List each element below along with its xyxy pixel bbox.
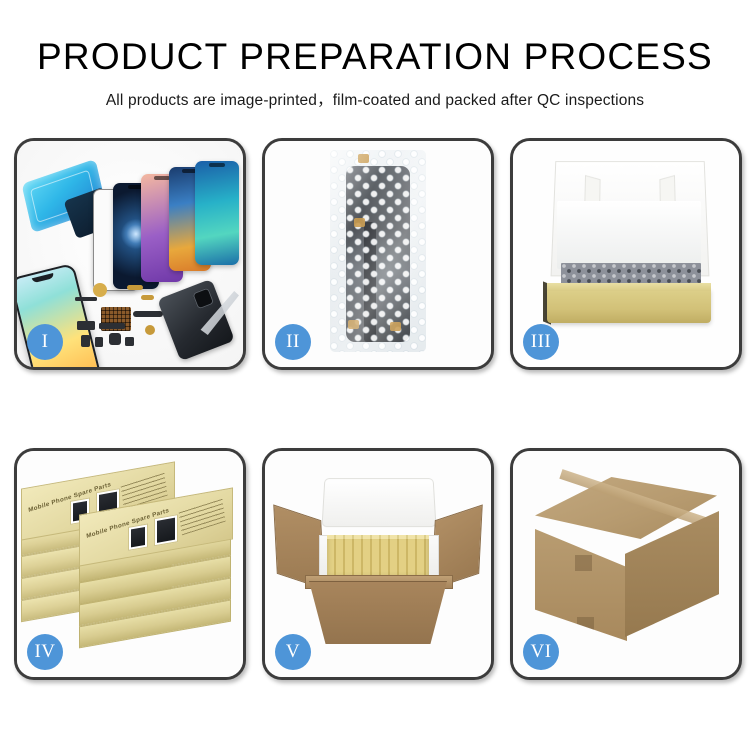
phone-screen-fan bbox=[91, 161, 241, 291]
phone-back-housing bbox=[157, 279, 235, 361]
small-bracket bbox=[95, 337, 103, 347]
step-panel-1: I bbox=[14, 138, 246, 370]
shield-can bbox=[77, 321, 95, 330]
step-panel-3: III bbox=[510, 138, 742, 370]
bubble-wrap-bag bbox=[330, 150, 426, 352]
speaker-component bbox=[93, 283, 107, 297]
lid-window-left bbox=[128, 523, 148, 551]
gold-connector bbox=[141, 295, 154, 300]
page-title: PRODUCT PREPARATION PROCESS bbox=[0, 38, 750, 77]
step-badge-3: III bbox=[523, 324, 559, 360]
charging-flex bbox=[133, 311, 163, 317]
step-badge-2: II bbox=[275, 324, 311, 360]
step-badge-6: VI bbox=[523, 634, 559, 670]
step-panel-5: V bbox=[262, 448, 494, 680]
spare-components-cluster bbox=[75, 281, 225, 363]
antenna-strip bbox=[75, 297, 97, 301]
white-foam-liner bbox=[557, 201, 701, 269]
carton-tab-upper bbox=[575, 555, 592, 571]
carton-tab-lower bbox=[577, 617, 594, 633]
step-badge-4: IV bbox=[27, 634, 63, 670]
step-badge-1: I bbox=[27, 324, 63, 360]
camera-module bbox=[109, 333, 121, 345]
step-panel-2: II bbox=[262, 138, 494, 370]
gold-button bbox=[145, 325, 155, 335]
step-panel-6: VI bbox=[510, 448, 742, 680]
shipping-carton-open bbox=[309, 581, 447, 644]
step-panel-4: Mobile Phone Spare Parts bbox=[14, 448, 246, 680]
sim-tray bbox=[81, 335, 90, 347]
flex-ribbon bbox=[99, 323, 125, 329]
plastic-sheen bbox=[330, 150, 426, 352]
lid-window-right bbox=[154, 514, 178, 546]
step-badge-5: V bbox=[275, 634, 311, 670]
infographic-page: PRODUCT PREPARATION PROCESS All products… bbox=[0, 0, 750, 750]
gold-flex-cable bbox=[127, 285, 143, 290]
yellow-box-base bbox=[547, 289, 711, 323]
vibration-motor bbox=[125, 337, 134, 346]
styrofoam-lid bbox=[322, 478, 437, 527]
carton-front-face bbox=[535, 529, 627, 641]
lid-spec-lines bbox=[178, 496, 225, 535]
process-step-grid: I II bbox=[14, 138, 736, 674]
header: PRODUCT PREPARATION PROCESS All products… bbox=[0, 0, 750, 110]
phone-screen-teal bbox=[195, 161, 239, 265]
page-subtitle: All products are image-printed，film-coat… bbox=[0, 88, 750, 110]
